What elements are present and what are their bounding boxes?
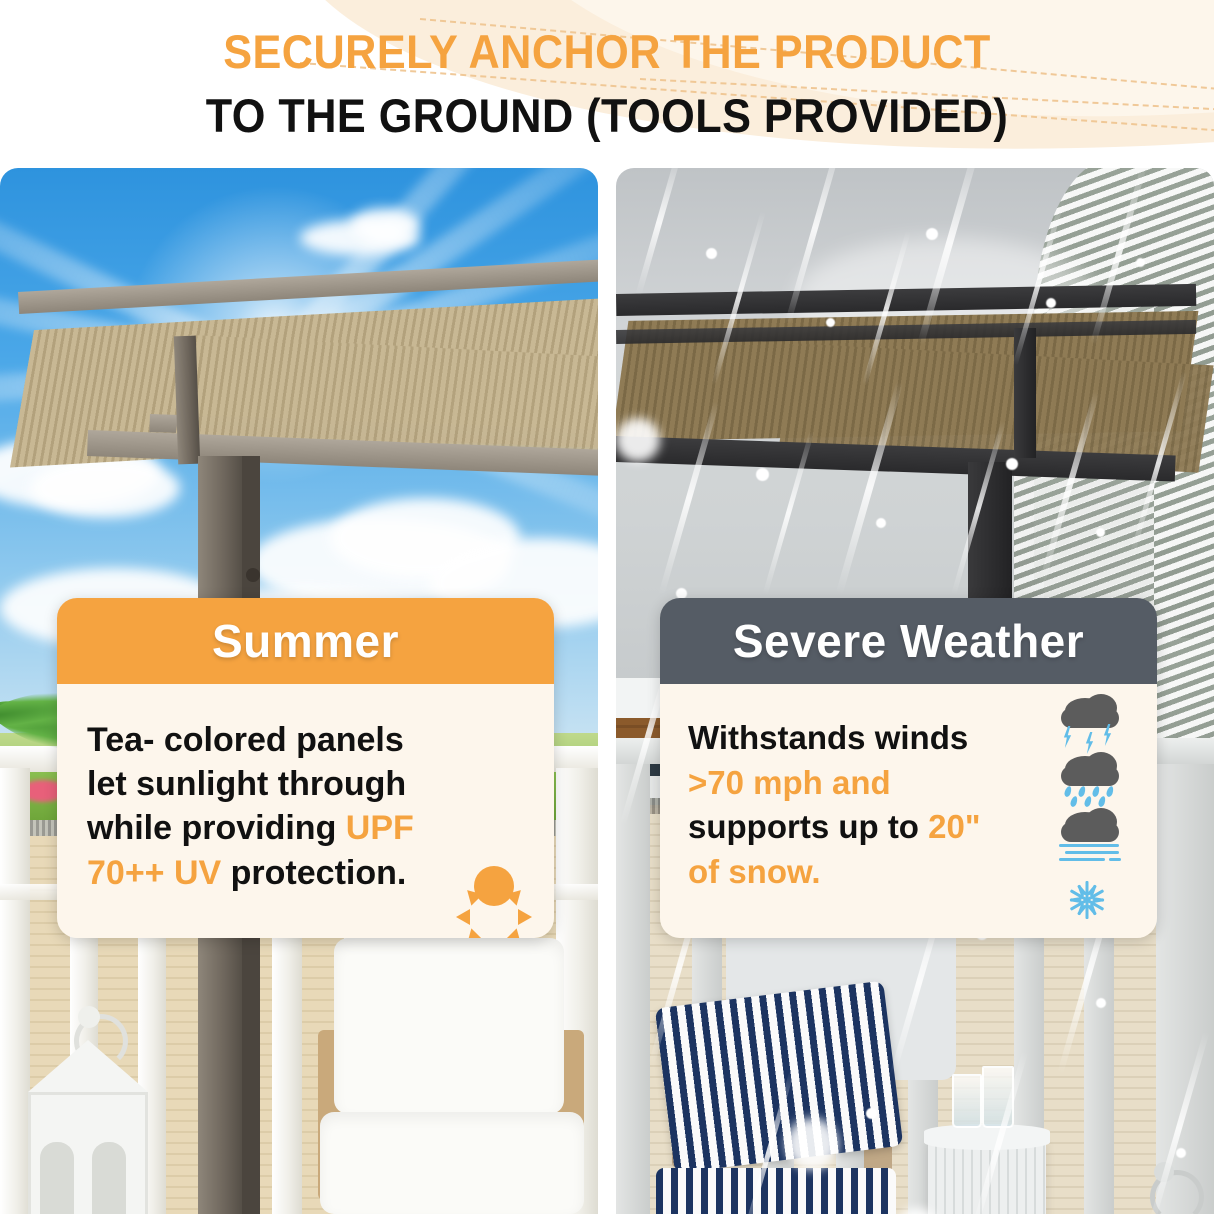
striped-throw-pillow — [655, 981, 904, 1174]
railing-post — [616, 764, 650, 1214]
snowflake-particle — [1096, 528, 1105, 537]
cloud-shape — [1061, 822, 1119, 842]
lantern-window — [92, 1142, 126, 1214]
wind-line — [1059, 844, 1119, 847]
sun-ray-segment — [456, 909, 470, 925]
summer-card-text: Tea- colored panels let sunlight through… — [87, 718, 417, 895]
snowflake-bokeh — [616, 418, 660, 462]
lightning-bolt — [1061, 726, 1074, 748]
snowflake-particle — [1006, 458, 1018, 470]
lantern-roof — [28, 1040, 148, 1092]
lounge-chair-seat — [320, 1112, 584, 1214]
snowflake-icon — [1055, 872, 1141, 930]
striped-seat-cushion — [656, 1168, 896, 1214]
weather-text-part-2: supports up to — [688, 808, 928, 845]
rain-drop — [1063, 785, 1072, 797]
severe-weather-info-card: Severe Weather Withstands winds >70 mph … — [660, 598, 1157, 938]
snowflake-bokeh — [786, 1118, 838, 1170]
snowflake-particle — [866, 1108, 877, 1119]
snowflake-shape — [1059, 872, 1115, 928]
rain-icon — [1055, 752, 1141, 808]
snowflake-particle — [926, 228, 938, 240]
snowflake-particle — [756, 468, 769, 481]
wind-line — [1065, 851, 1119, 854]
rain-drop — [1105, 785, 1114, 797]
rain-drop — [1097, 795, 1106, 807]
summer-text-part-2: protection. — [221, 854, 406, 892]
railing-post — [1156, 764, 1214, 1214]
rain-drop — [1091, 785, 1100, 797]
summer-card-body: Tea- colored panels let sunlight through… — [57, 684, 554, 938]
thunderstorm-icon — [1055, 694, 1141, 750]
header-banner: SECURELY ANCHOR THE PRODUCT TO THE GROUN… — [0, 0, 1214, 168]
rain-drop — [1069, 795, 1078, 807]
sun-ray-segment — [486, 879, 502, 893]
sun-ray-segment — [518, 909, 532, 925]
headline-line-2: TO THE GROUND (TOOLS PROVIDED) — [49, 88, 1166, 143]
severe-weather-card-header: Severe Weather — [660, 598, 1157, 684]
snowflake-particle — [826, 318, 835, 327]
snowflake-particle — [1046, 298, 1056, 308]
weather-icon-column — [1055, 694, 1141, 930]
snowflake-particle — [1136, 258, 1145, 267]
snowflake-particle — [1096, 998, 1106, 1008]
weather-text-highlight-wind: >70 mph and — [688, 764, 891, 801]
severe-weather-card-title: Severe Weather — [733, 614, 1084, 668]
headline-line-2-main: TO THE GROUND — [206, 89, 586, 142]
cloud-shape — [1061, 766, 1119, 786]
summer-card-title: Summer — [212, 614, 399, 668]
wind-fog-icon — [1055, 810, 1141, 866]
headline-line-2-parenthetical: (TOOLS PROVIDED) — [586, 89, 1008, 142]
lounge-chair-backrest — [334, 938, 564, 1114]
weather-text-part-1: Withstands winds — [688, 719, 968, 756]
rain-drop — [1083, 795, 1092, 807]
snowflake-particle — [876, 518, 886, 528]
cloud-shape — [1061, 708, 1119, 728]
lantern-window — [40, 1142, 74, 1214]
headline-line-1: SECURELY ANCHOR THE PRODUCT — [49, 24, 1166, 79]
lantern-knob — [78, 1006, 100, 1028]
drinking-glass — [952, 1074, 982, 1128]
pergola-bolt — [246, 568, 260, 582]
summer-info-card: Summer Tea- colored panels let sunlight … — [57, 598, 554, 938]
severe-weather-card-text: Withstands winds >70 mph and supports up… — [688, 716, 988, 894]
rain-drop — [1077, 785, 1086, 797]
snowflake-particle — [1176, 1148, 1186, 1158]
sun-ray-segment — [505, 928, 526, 938]
lightning-bolt — [1083, 732, 1096, 754]
pergola-center-support — [174, 336, 200, 465]
snowflake-particle — [706, 248, 717, 259]
sun-icon — [456, 848, 532, 924]
wind-line — [1109, 858, 1121, 861]
severe-weather-card-body: Withstands winds >70 mph and supports up… — [660, 684, 1157, 938]
wind-line — [1059, 858, 1105, 861]
sun-ray-segment — [461, 928, 482, 938]
summer-card-header: Summer — [57, 598, 554, 684]
